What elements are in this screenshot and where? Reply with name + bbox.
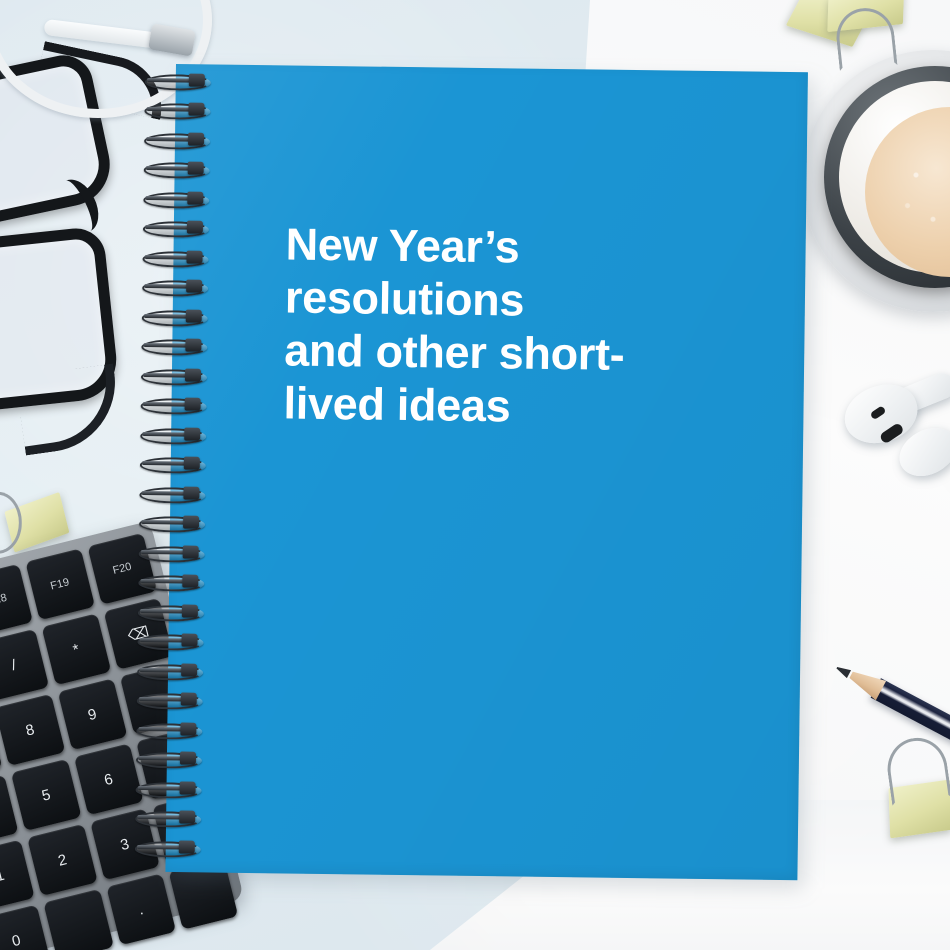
spiral-coil: [136, 723, 216, 737]
keypad-key[interactable]: 2: [27, 824, 97, 896]
spiral-coil: [138, 575, 218, 589]
spiral-coil-tip: [186, 250, 202, 263]
spiral-coil-wire: [146, 137, 192, 142]
spiral-coil-wire: [142, 432, 188, 437]
spiral-coil-wire: [147, 78, 193, 83]
spiral-coil-wire: [141, 550, 187, 555]
spiral-coil-tip: [185, 339, 201, 352]
earbuds: [838, 372, 950, 492]
spiral-coil: [139, 487, 219, 501]
spiral-coil-tip: [188, 103, 204, 116]
spiral-coil: [135, 840, 215, 854]
pencil-lead-tip: [835, 664, 852, 679]
spiral-coil-tip: [181, 693, 197, 706]
spiral-coil-tip: [183, 486, 199, 499]
spiral-coil-tip: [188, 162, 204, 175]
spiral-coil-wire: [143, 373, 189, 378]
spiral-coil: [141, 369, 221, 383]
spiral-coil-tip: [183, 516, 199, 529]
keypad-key[interactable]: /: [0, 629, 49, 701]
spiral-coil: [140, 457, 220, 471]
notebook-cover-title: New Year’s resolutions and other short- …: [283, 217, 676, 434]
spiral-coil-tip: [180, 722, 196, 735]
spiral-coil-wire: [138, 727, 184, 732]
eyeglass-temple-arm-lower: [15, 363, 124, 455]
spiral-coil: [142, 310, 222, 324]
keypad-key[interactable]: 8: [0, 694, 65, 766]
spiral-coil-wire: [140, 638, 186, 643]
coffee-cup: [824, 66, 950, 296]
coffee-crema: [865, 107, 950, 277]
coffee-cup-interior: [839, 81, 950, 273]
spiral-coil-tip: [188, 133, 204, 146]
cover-sheen: [165, 64, 808, 880]
binder-clip: [871, 743, 950, 832]
earbud-port-icon: [879, 422, 905, 445]
spiral-coil-tip: [187, 191, 203, 204]
spiral-coil-wire: [140, 609, 186, 614]
binder-clip: [820, 0, 912, 76]
spiral-coil-tip: [189, 74, 205, 87]
keypad-key[interactable]: F19: [25, 548, 95, 620]
spiral-coil-tip: [187, 221, 203, 234]
spiral-coil: [143, 221, 223, 235]
spiral-coil: [137, 634, 217, 648]
spiral-coil: [136, 781, 216, 795]
spiral-coil-tip: [183, 545, 199, 558]
spiral-coil: [139, 546, 219, 560]
spiral-coil: [144, 162, 224, 176]
spiral-coil: [141, 339, 221, 353]
spiral-coil-tip: [179, 811, 195, 824]
spiral-coil: [142, 251, 222, 265]
spiral-coil-tip: [186, 280, 202, 293]
spiral-coil-wire: [139, 668, 185, 673]
keypad-key[interactable]: *: [41, 613, 111, 685]
spiral-coil-tip: [184, 427, 200, 440]
spiral-coil-tip: [180, 752, 196, 765]
spiral-coil: [139, 516, 219, 530]
keypad-key[interactable]: 9: [57, 678, 127, 750]
spiral-notebook[interactable]: New Year’s resolutions and other short- …: [165, 64, 808, 880]
spiral-coil-tip: [179, 840, 195, 853]
spiral-coil: [137, 693, 217, 707]
flat-lay-scene: F17F18F19F20num/*⌫789−456+123enter0. New…: [0, 0, 950, 950]
spiral-binding: [135, 70, 229, 871]
spiral-coil-wire: [138, 786, 184, 791]
spiral-coil: [138, 605, 218, 619]
keypad-key[interactable]: [44, 889, 114, 950]
spiral-coil-tip: [181, 634, 197, 647]
spiral-coil-wire: [138, 756, 184, 761]
spiral-coil-tip: [186, 309, 202, 322]
spiral-coil-tip: [184, 457, 200, 470]
spiral-coil: [137, 664, 217, 678]
spiral-coil-wire: [139, 697, 185, 702]
earbud-sensor-icon: [870, 405, 887, 420]
spiral-coil-wire: [140, 579, 186, 584]
keypad-key[interactable]: 5: [11, 759, 81, 831]
spiral-coil: [141, 398, 221, 412]
spiral-coil-wire: [145, 196, 191, 201]
spiral-coil-wire: [137, 844, 183, 849]
spiral-coil: [144, 133, 224, 147]
notebook-cover: New Year’s resolutions and other short- …: [165, 64, 808, 880]
spiral-coil-tip: [180, 781, 196, 794]
spiral-coil: [143, 192, 223, 206]
spiral-coil-tip: [182, 604, 198, 617]
spiral-coil-wire: [145, 255, 191, 260]
spiral-coil: [145, 74, 225, 88]
spiral-coil-wire: [137, 815, 183, 820]
spiral-coil: [135, 811, 215, 825]
spiral-coil-tip: [182, 575, 198, 588]
spiral-coil-tip: [185, 398, 201, 411]
spiral-coil: [142, 280, 222, 294]
spiral-coil: [136, 752, 216, 766]
spiral-coil-tip: [181, 663, 197, 676]
spiral-coil-wire: [144, 314, 190, 319]
spiral-coil-wire: [141, 491, 187, 496]
spiral-coil: [140, 428, 220, 442]
spiral-coil-tip: [185, 368, 201, 381]
keypad-key[interactable]: 6: [73, 743, 143, 815]
keypad-key[interactable]: 0: [0, 904, 51, 950]
spiral-coil: [144, 103, 224, 117]
